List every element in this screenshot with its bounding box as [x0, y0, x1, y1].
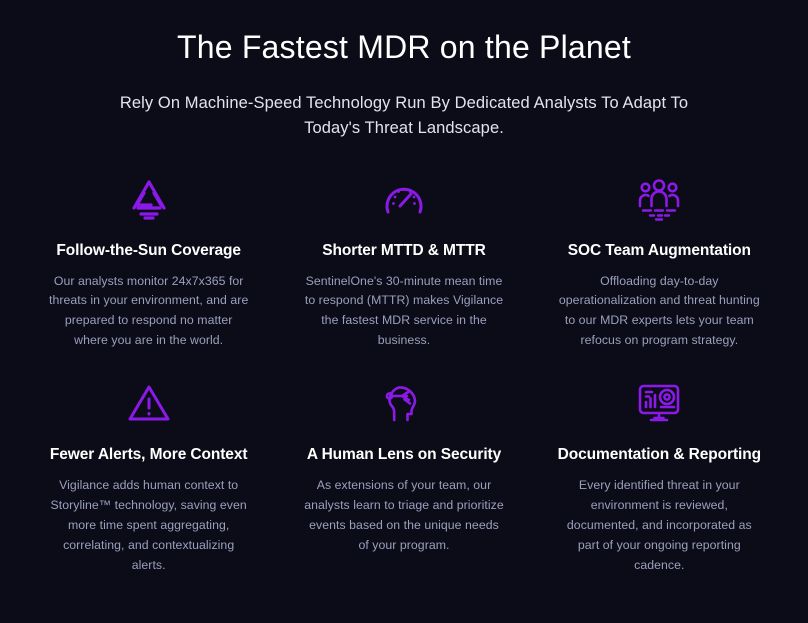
feature-card-title: Fewer Alerts, More Context: [50, 445, 248, 465]
feature-card-fewer-alerts[interactable]: Fewer Alerts, More Context Vigilance add…: [26, 375, 271, 575]
feature-card-soc-team-augmentation[interactable]: SOC Team Augmentation Offloading day-to-…: [537, 171, 782, 351]
speedometer-icon: [380, 171, 428, 227]
head-circuit-icon: [380, 375, 428, 431]
page-subtitle: Rely On Machine-Speed Technology Run By …: [104, 91, 704, 141]
triangle-spiral-icon: [125, 171, 173, 227]
feature-card-title: Follow-the-Sun Coverage: [56, 241, 241, 261]
feature-card-human-lens[interactable]: A Human Lens on Security As extensions o…: [281, 375, 526, 575]
feature-card-body: Offloading day-to-day operationalization…: [556, 272, 762, 352]
hero-section: The Fastest MDR on the Planet Rely On Ma…: [0, 0, 808, 141]
feature-card-follow-the-sun[interactable]: Follow-the-Sun Coverage Our analysts mon…: [26, 171, 271, 351]
team-group-icon: [634, 171, 684, 227]
feature-card-body: Every identified threat in your environm…: [558, 476, 760, 576]
feature-grid: Follow-the-Sun Coverage Our analysts mon…: [0, 171, 808, 576]
feature-card-body: As extensions of your team, our analysts…: [303, 476, 505, 556]
monitor-report-icon: [634, 375, 684, 431]
feature-card-documentation-reporting[interactable]: Documentation & Reporting Every identifi…: [537, 375, 782, 575]
feature-card-body: Our analysts monitor 24x7x365 for threat…: [48, 272, 250, 352]
feature-card-title: Documentation & Reporting: [558, 445, 761, 465]
page-root: The Fastest MDR on the Planet Rely On Ma…: [0, 0, 808, 623]
feature-card-shorter-mttd-mttr[interactable]: Shorter MTTD & MTTR SentinelOne's 30-min…: [281, 171, 526, 351]
page-title: The Fastest MDR on the Planet: [0, 26, 808, 69]
feature-card-body: Vigilance adds human context to Storylin…: [48, 476, 250, 576]
feature-card-title: SOC Team Augmentation: [568, 241, 751, 261]
feature-card-title: A Human Lens on Security: [307, 445, 501, 465]
feature-card-title: Shorter MTTD & MTTR: [322, 241, 485, 261]
warning-triangle-icon: [125, 375, 173, 431]
feature-card-body: SentinelOne's 30-minute mean time to res…: [303, 272, 505, 352]
